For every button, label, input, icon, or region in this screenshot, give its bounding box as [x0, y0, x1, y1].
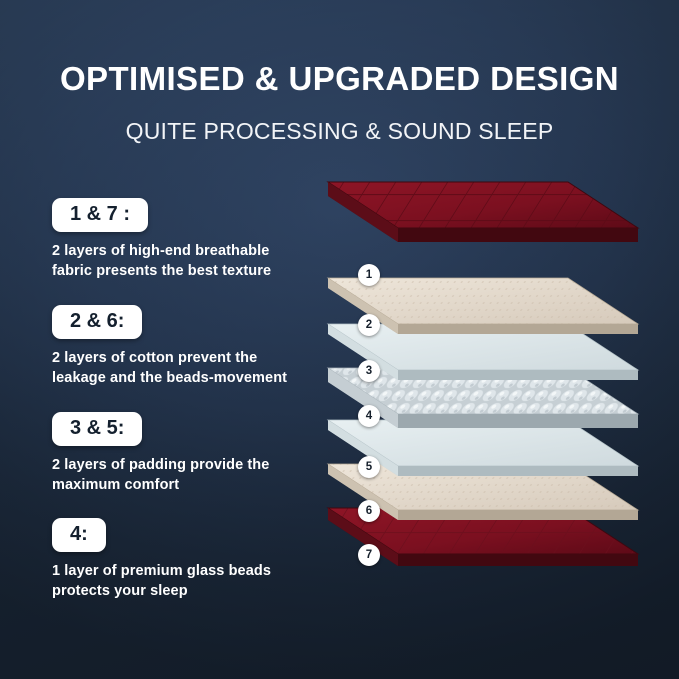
callout-description: 2 layers of high-end breathable fabric p… [52, 241, 312, 281]
callout-layers-3-and-5: 3 & 5: 2 layers of padding provide the m… [52, 412, 312, 495]
callout-badge-label: 4: [52, 518, 106, 552]
callout-badge-label: 1 & 7 : [52, 198, 148, 232]
layer-badge-6: 6 [358, 500, 380, 522]
callout-layers-2-and-6: 2 & 6: 2 layers of cotton prevent the le… [52, 305, 312, 388]
callout-badge-label: 2 & 6: [52, 305, 142, 339]
layer-badge-4: 4 [358, 405, 380, 427]
layer-badge-1: 1 [358, 264, 380, 286]
page-title: OPTIMISED & UPGRADED DESIGN [0, 60, 679, 98]
layer-badge-2: 2 [358, 314, 380, 336]
layer-badge-3: 3 [358, 360, 380, 382]
callout-badge-label: 3 & 5: [52, 412, 142, 446]
callout-description: 2 layers of padding provide the maximum … [52, 455, 312, 495]
layer-badge-7: 7 [358, 544, 380, 566]
exploded-layer-stack: 1 2 3 4 5 6 7 [300, 168, 660, 598]
layer-1-breathable-fabric-top [328, 182, 638, 242]
page-subtitle: QUITE PROCESSING & SOUND SLEEP [0, 118, 679, 145]
callout-description: 1 layer of premium glass beads protects … [52, 561, 312, 601]
layer-stack-graphic [300, 168, 660, 598]
layer-badge-5: 5 [358, 456, 380, 478]
callout-layer-4: 4: 1 layer of premium glass beads protec… [52, 518, 312, 601]
callout-description: 2 layers of cotton prevent the leakage a… [52, 348, 312, 388]
product-infographic: OPTIMISED & UPGRADED DESIGN QUITE PROCES… [0, 0, 679, 679]
callout-layers-1-and-7: 1 & 7 : 2 layers of high-end breathable … [52, 198, 312, 281]
